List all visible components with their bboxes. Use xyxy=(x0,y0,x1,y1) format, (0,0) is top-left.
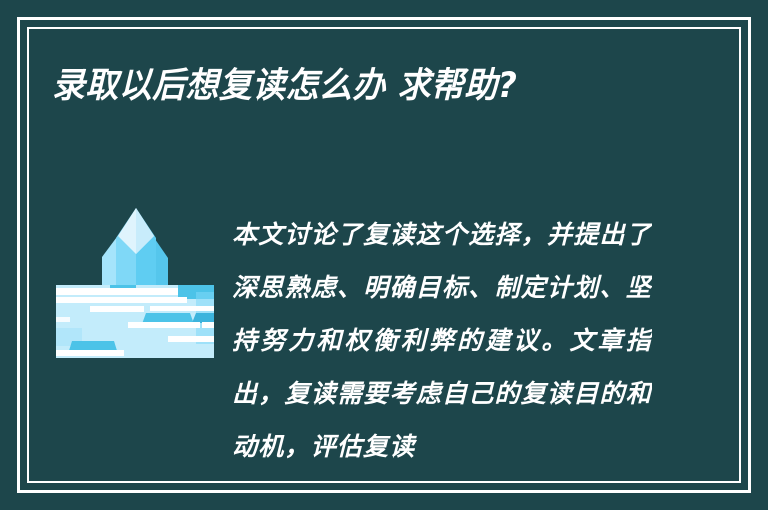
iceberg-illustration xyxy=(50,196,214,362)
article-summary-text: 本文讨论了复读这个选择，并提出了深思熟虑、明确目标、制定计划、坚持努力和权衡利弊… xyxy=(232,208,652,473)
page-title: 录取以后想复读怎么办 求帮助? xyxy=(52,66,672,106)
poster-canvas: 录取以后想复读怎么办 求帮助? xyxy=(0,0,768,510)
